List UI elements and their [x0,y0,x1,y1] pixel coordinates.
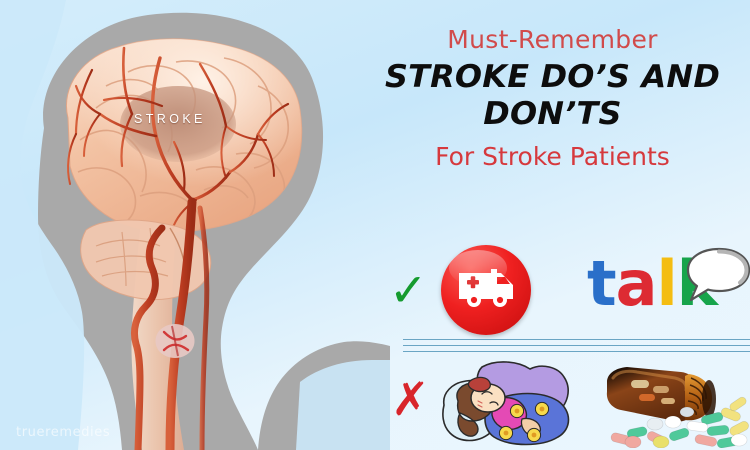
google-talk-logo: talk [587,247,750,335]
title-kicker: Must-Remember [355,26,750,54]
brain-stroke-illustration [0,0,390,450]
stroke-dos-and-donts-poster: STROKE Must-Remember STROKE DO’S AND DON… [0,0,750,450]
stroke-label: STROKE [134,112,206,126]
page-title: STROKE DO’S AND DON’TS [349,59,750,135]
ambulance-icon [457,265,515,311]
check-icon: ✓ [389,267,428,313]
artery-blockage [156,324,195,358]
divider-line-2 [403,345,750,346]
watermark: trueremedies [16,425,110,440]
cross-icon: ✗ [391,376,430,422]
dos-and-donts-icon-grid: ✓ talk [385,243,750,450]
talk-letter-a: a [616,247,657,320]
speech-bubble-icon [683,247,750,311]
title-block: Must-Remember STROKE DO’S AND DON’TS For… [355,26,750,171]
spilled-pill-bottle-icon [603,360,750,448]
talk-letter-t: t [587,247,616,320]
title-subtitle: For Stroke Patients [355,143,750,171]
sleeping-patient-icon [438,361,588,447]
divider-line-3 [403,351,750,352]
talk-letter-l: l [656,247,676,320]
ambulance-badge [441,245,531,335]
divider-line-1 [403,339,750,340]
